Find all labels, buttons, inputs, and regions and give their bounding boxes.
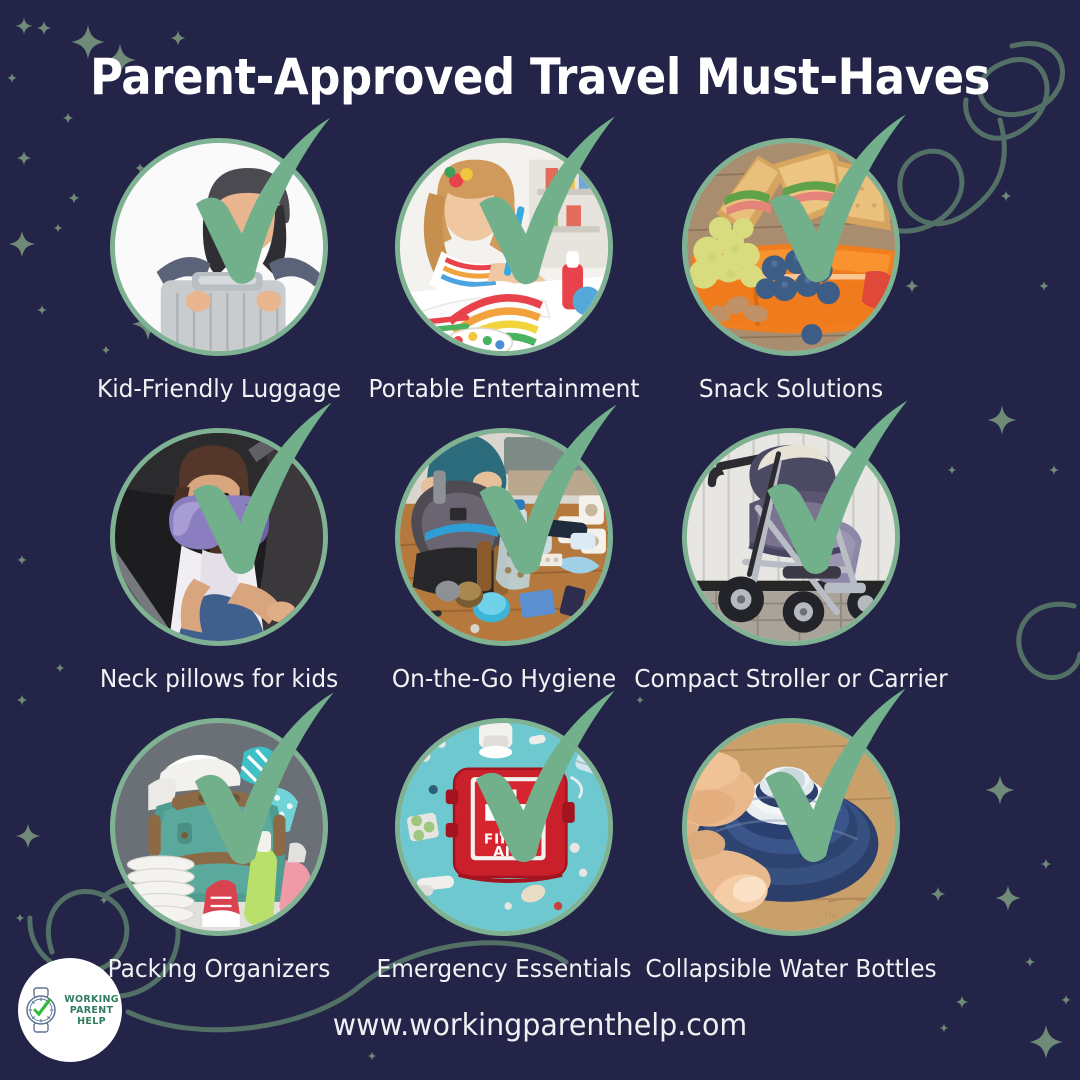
illustration-stroller xyxy=(687,433,895,641)
grid-item[interactable]: Compact Stroller or Carrier xyxy=(682,428,972,718)
grid-item[interactable]: Snack Solutions xyxy=(682,138,972,428)
logo-line-2: PARENT xyxy=(64,1005,119,1016)
illustration-girl-neck-pillow-car xyxy=(115,433,323,641)
photo-snack-solutions xyxy=(682,138,900,356)
logo-line-1: WORKING xyxy=(64,994,119,1005)
grid-item[interactable]: mi Collapsible Water Bottles xyxy=(682,718,972,1008)
photo-wrap xyxy=(110,428,328,646)
page-title: Parent-Approved Travel Must-Haves xyxy=(54,48,1026,106)
illustration-first-aid-kit: FIRST AID xyxy=(400,723,608,931)
item-label: On-the-Go Hygiene xyxy=(347,664,661,693)
items-grid: Kid-Friendly Luggage xyxy=(0,138,1080,1008)
item-label: Neck pillows for kids xyxy=(62,664,376,693)
grid-row: Kid-Friendly Luggage xyxy=(0,138,1080,428)
infographic-canvas: Parent-Approved Travel Must-Haves xyxy=(0,0,1080,1080)
logo-line-3: HELP xyxy=(64,1016,119,1027)
photo-portable-entertainment xyxy=(395,138,613,356)
item-label: Snack Solutions xyxy=(634,374,948,403)
logo-text: WORKING PARENT HELP xyxy=(64,994,119,1027)
svg-text:mi: mi xyxy=(824,910,837,922)
photo-packing-organizers xyxy=(110,718,328,936)
photo-on-the-go-hygiene xyxy=(395,428,613,646)
item-label: Emergency Essentials xyxy=(347,954,661,983)
item-label: Collapsible Water Bottles xyxy=(634,954,948,983)
illustration-girl-drawing-rainbow xyxy=(400,143,608,351)
illustration-girl-with-suitcase xyxy=(115,143,323,351)
item-label: Kid-Friendly Luggage xyxy=(62,374,376,403)
illustration-lunchbox xyxy=(687,143,895,351)
photo-wrap xyxy=(395,138,613,356)
photo-wrap xyxy=(395,428,613,646)
photo-neck-pillows xyxy=(110,428,328,646)
photo-wrap xyxy=(110,138,328,356)
grid-row: Neck pillows for kids xyxy=(0,428,1080,718)
photo-wrap: mi xyxy=(682,718,900,936)
photo-wrap xyxy=(682,138,900,356)
photo-kid-friendly-luggage xyxy=(110,138,328,356)
item-label: Portable Entertainment xyxy=(347,374,661,403)
photo-collapsible-water-bottles: mi xyxy=(682,718,900,936)
photo-wrap xyxy=(682,428,900,646)
illustration-diaper-backpack xyxy=(115,723,323,931)
illustration-travel-supplies xyxy=(400,433,608,641)
watch-with-check-icon xyxy=(21,987,61,1033)
photo-emergency-essentials: FIRST AID xyxy=(395,718,613,936)
photo-wrap: FIRST AID xyxy=(395,718,613,936)
illustration-collapsed-bottle-in-hand: mi xyxy=(687,723,895,931)
photo-wrap xyxy=(110,718,328,936)
svg-text:AID: AID xyxy=(493,844,523,860)
footer-url[interactable]: www.workingparenthelp.com xyxy=(27,1008,1053,1043)
brand-logo[interactable]: WORKING PARENT HELP xyxy=(18,958,122,1062)
grid-row: Packing Organizers xyxy=(0,718,1080,1008)
photo-compact-stroller xyxy=(682,428,900,646)
item-label: Compact Stroller or Carrier xyxy=(634,664,948,693)
